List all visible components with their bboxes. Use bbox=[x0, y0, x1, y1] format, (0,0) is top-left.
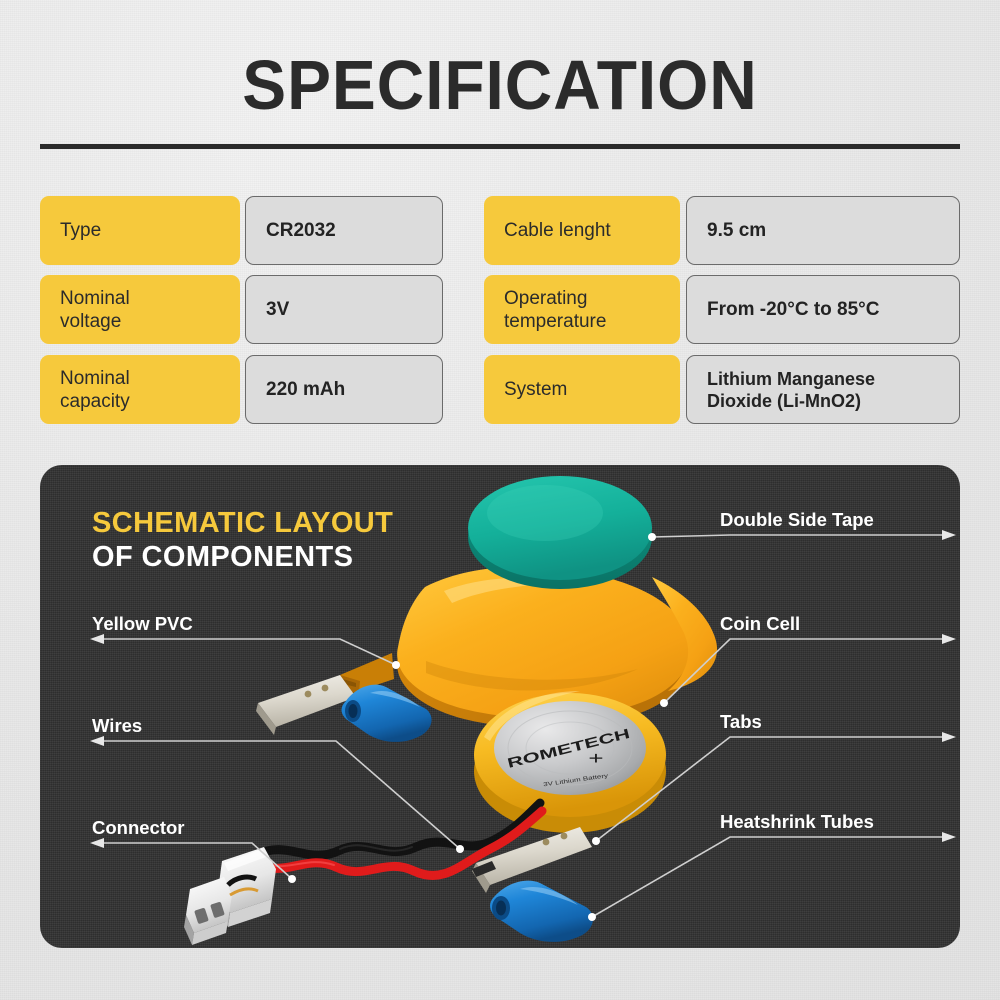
spec-key-cell: Cable lenght bbox=[484, 196, 680, 265]
callout-label-tabs: Tabs bbox=[720, 711, 762, 733]
spec-value-cell: From -20°C to 85°C bbox=[686, 275, 960, 344]
callout-label-double-side-tape: Double Side Tape bbox=[720, 509, 874, 531]
callout-label-connector: Connector bbox=[92, 817, 185, 839]
arrowhead-right bbox=[942, 832, 956, 842]
callout-label-wires: Wires bbox=[92, 715, 142, 737]
arrowhead-right bbox=[942, 732, 956, 742]
callout-leader-lines bbox=[40, 465, 960, 948]
callout-label-heatshrink-tubes: Heatshrink Tubes bbox=[720, 811, 874, 833]
schematic-panel: SCHEMATIC LAYOUT OF COMPONENTS bbox=[40, 465, 960, 948]
callout-label-coin-cell: Coin Cell bbox=[720, 613, 800, 635]
spec-key-cell: System bbox=[484, 355, 680, 424]
spec-value-cell: Lithium Manganese Dioxide (Li-MnO2) bbox=[686, 355, 960, 424]
arrowhead-right bbox=[942, 530, 956, 540]
spec-key-cell: Type bbox=[40, 196, 240, 265]
arrowhead-left bbox=[90, 838, 104, 848]
spec-value-cell: 9.5 cm bbox=[686, 196, 960, 265]
arrowhead-left bbox=[90, 634, 104, 644]
spec-value-cell: 3V bbox=[245, 275, 443, 344]
specification-table: Type CR2032 Nominal voltage 3V Nominal c… bbox=[0, 196, 1000, 436]
spec-value-cell: CR2032 bbox=[245, 196, 443, 265]
spec-key-cell: Nominal capacity bbox=[40, 355, 240, 424]
callout-label-yellow-pvc: Yellow PVC bbox=[92, 613, 193, 635]
page-title: SPECIFICATION bbox=[30, 48, 970, 122]
spec-value-cell: 220 mAh bbox=[245, 355, 443, 424]
arrowhead-left bbox=[90, 736, 104, 746]
spec-key-cell: Operating temperature bbox=[484, 275, 680, 344]
arrowhead-right bbox=[942, 634, 956, 644]
title-divider bbox=[40, 144, 960, 149]
spec-key-cell: Nominal voltage bbox=[40, 275, 240, 344]
